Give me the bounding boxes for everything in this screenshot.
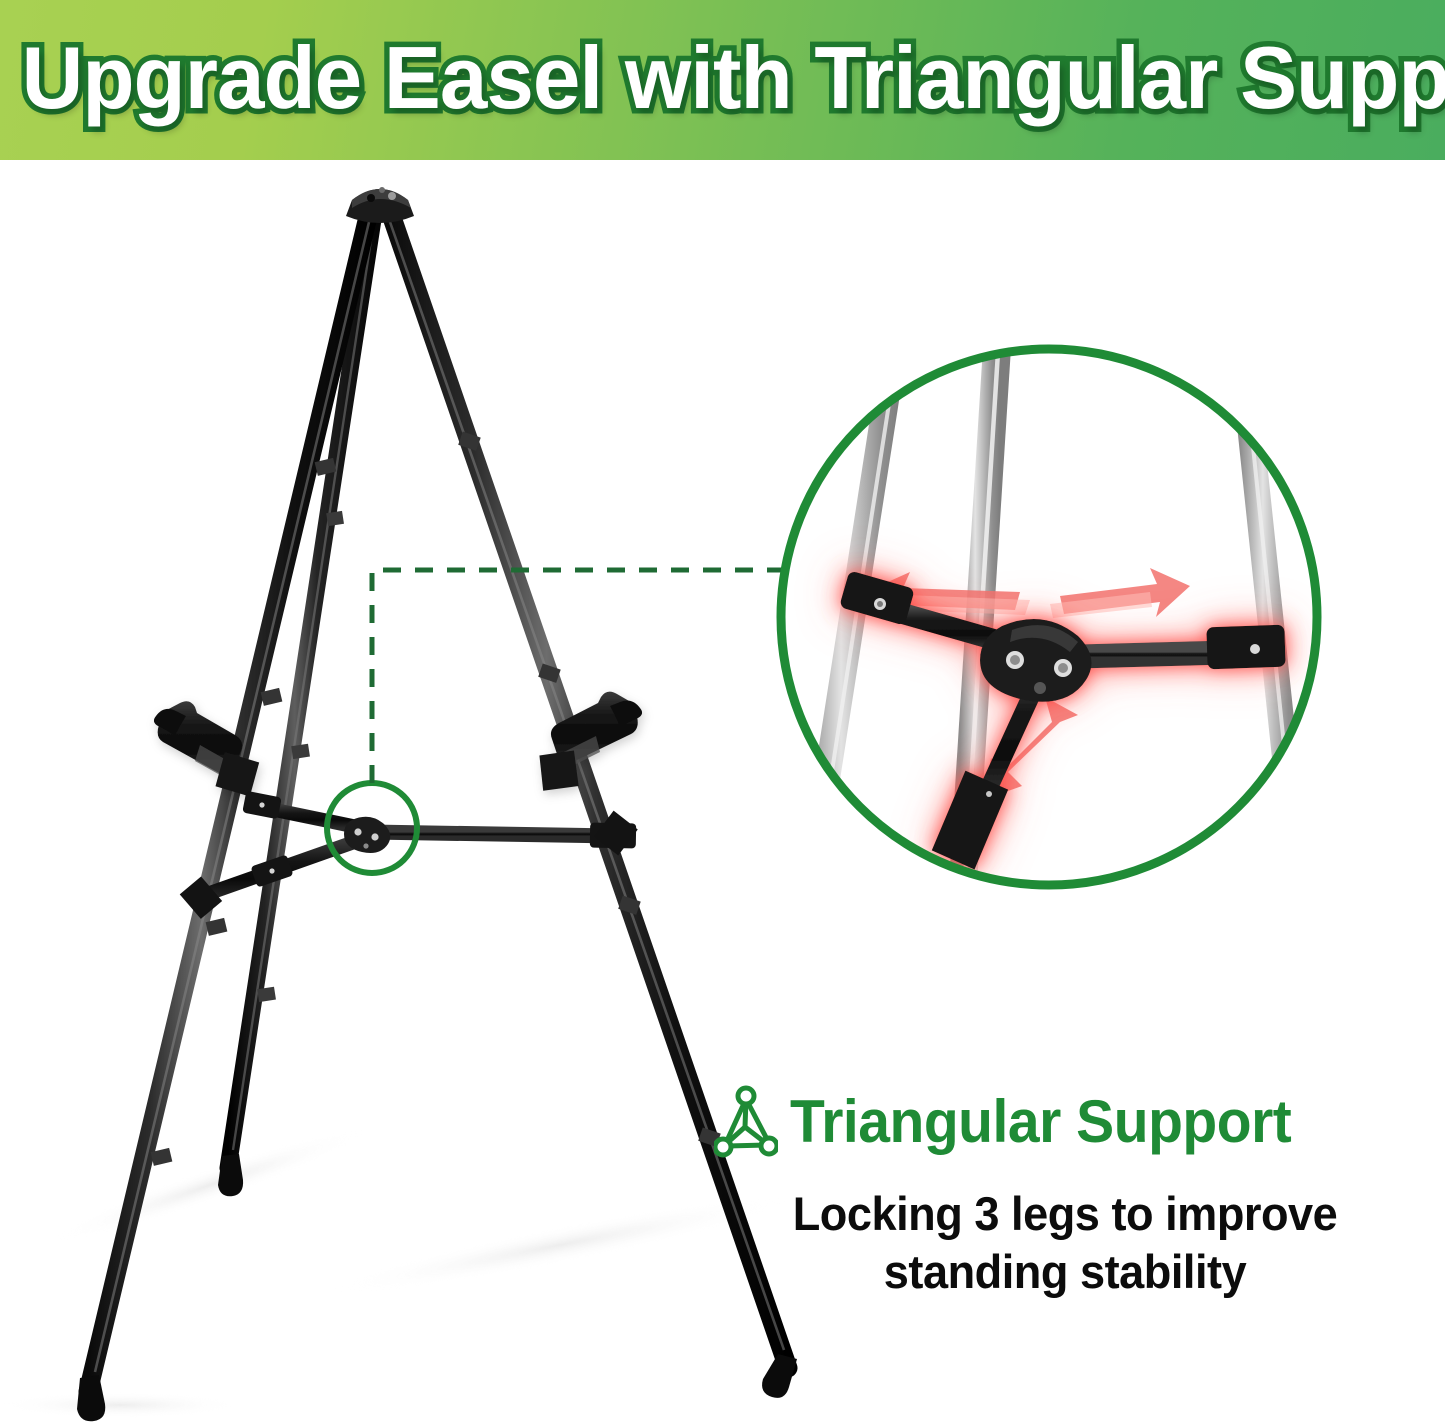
detail-zoom-callout bbox=[781, 300, 1317, 930]
feature-caption: Triangular Support Locking 3 legs to imp… bbox=[700, 1085, 1430, 1301]
easel-rear-leg bbox=[218, 200, 376, 1196]
easel-foot-rear bbox=[218, 1154, 243, 1196]
product-feature-image: Upgrade Easel with Triangular Support bbox=[0, 0, 1445, 1428]
easel-tripod bbox=[77, 187, 797, 1421]
easel-foot-front-left bbox=[77, 1375, 105, 1421]
product-illustration-stage: Triangular Support Locking 3 legs to imp… bbox=[0, 160, 1445, 1428]
feature-heading-row: Triangular Support bbox=[700, 1085, 1430, 1159]
feature-description-line-1: Locking 3 legs to improve bbox=[715, 1185, 1416, 1243]
feature-description: Locking 3 legs to improve standing stabi… bbox=[715, 1185, 1416, 1301]
feature-description-line-2: standing stability bbox=[715, 1243, 1416, 1301]
banner-title: Upgrade Easel with Triangular Support bbox=[22, 22, 1424, 134]
header-banner: Upgrade Easel with Triangular Support bbox=[0, 0, 1445, 160]
feature-title: Triangular Support bbox=[790, 1089, 1291, 1155]
easel-foot-front-right bbox=[762, 1354, 797, 1398]
easel-apex-hub bbox=[346, 187, 414, 223]
triangular-support-icon bbox=[714, 1085, 778, 1159]
